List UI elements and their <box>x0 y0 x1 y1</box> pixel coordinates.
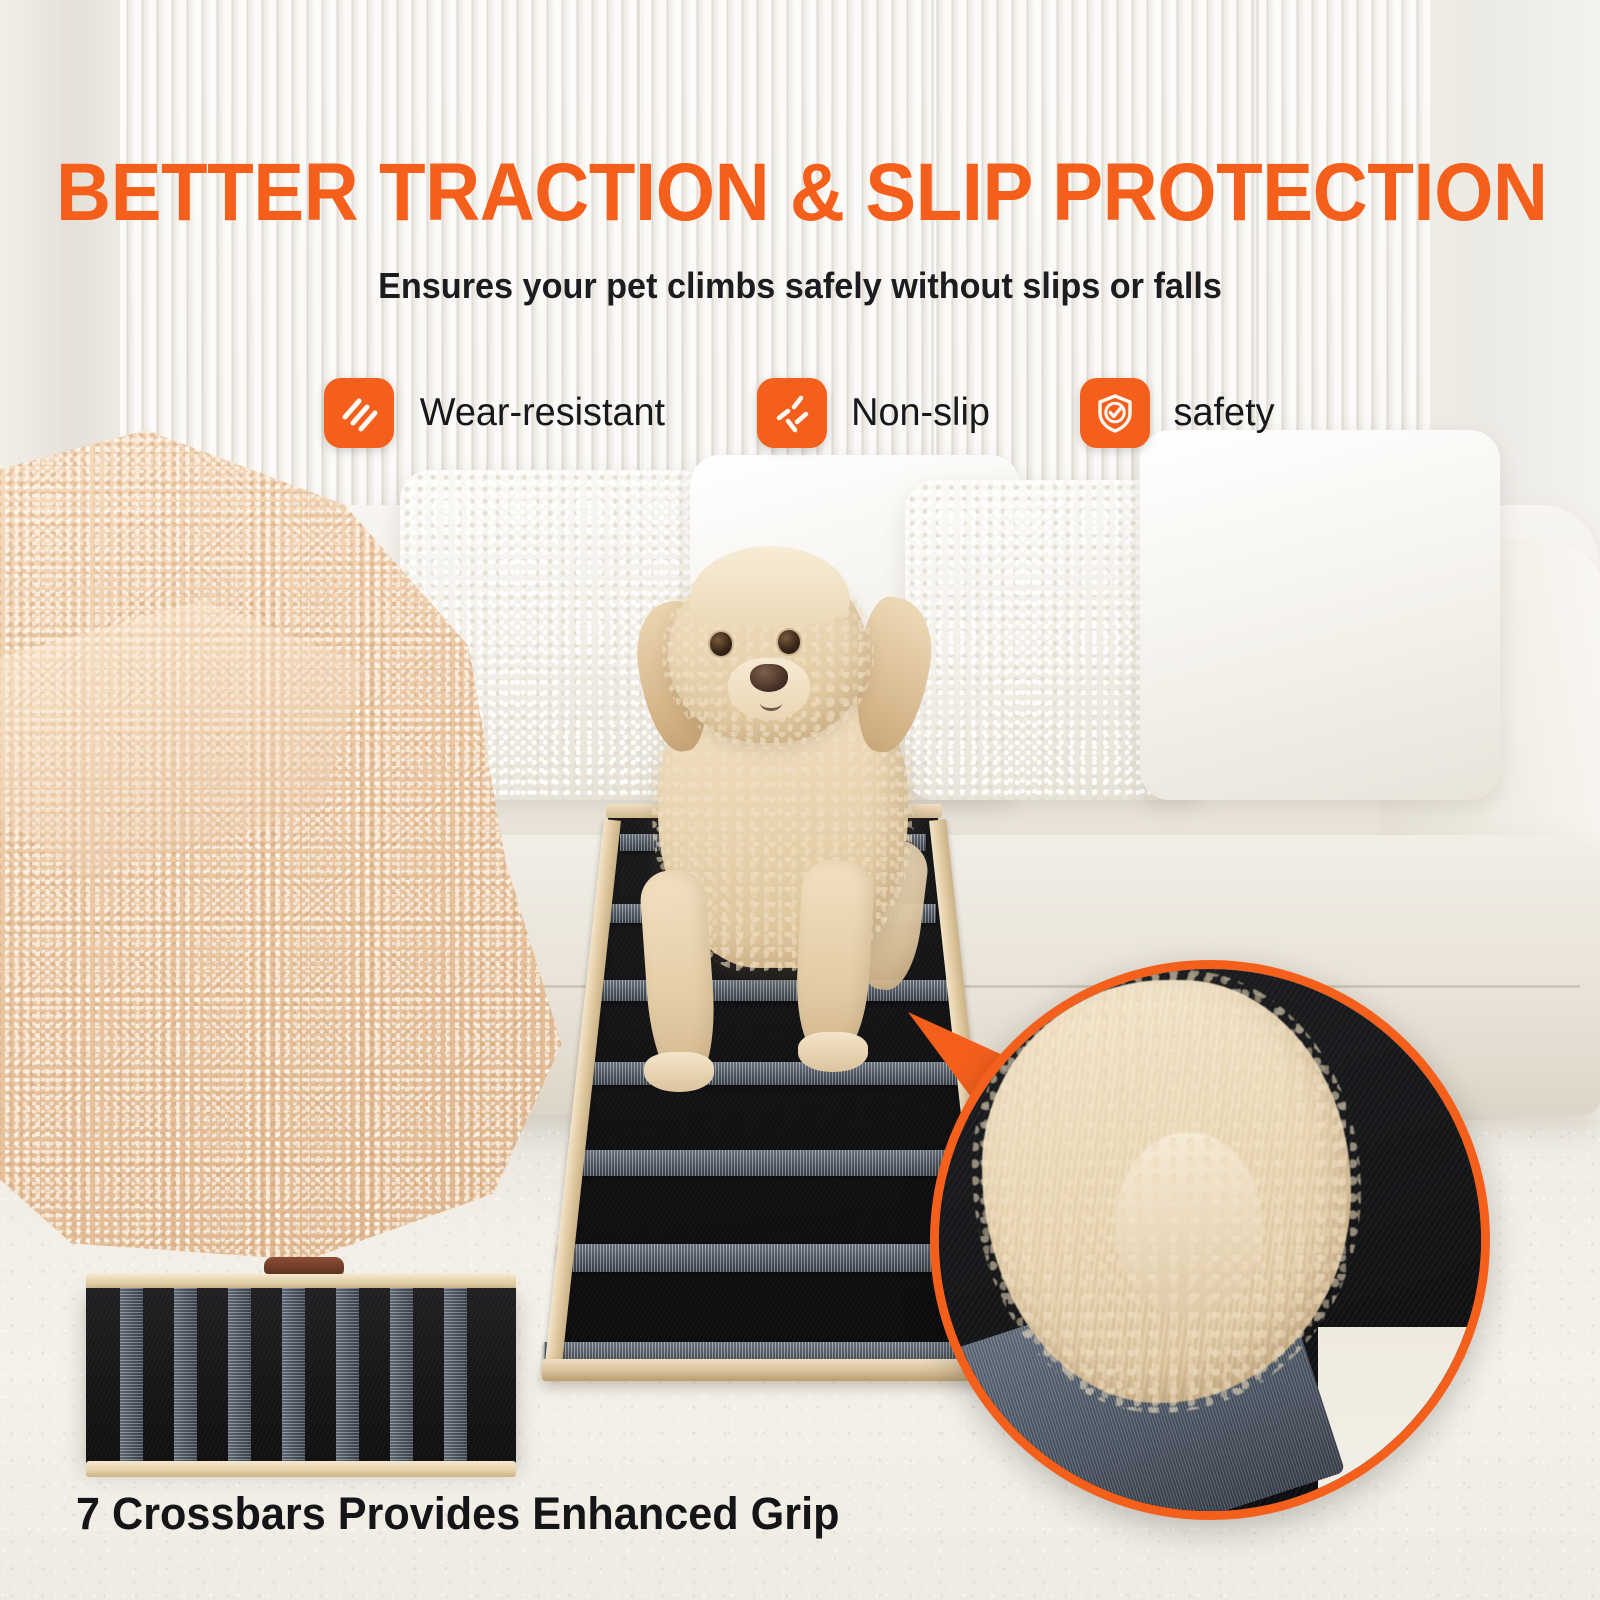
ramp-crossbar <box>558 1244 988 1272</box>
feature-badge-non-slip: Non-slip <box>757 378 992 448</box>
caption: 7 Crossbars Provides Enhanced Grip <box>76 1488 940 1540</box>
callout-paw-toe <box>1115 1132 1262 1318</box>
folded-ramp-crossbar <box>174 1288 197 1463</box>
folded-ramp-crossbar <box>336 1288 359 1463</box>
feature-badge-label: Non-slip <box>851 391 990 435</box>
callout-circle <box>930 960 1490 1520</box>
dog-paw-right <box>798 1032 868 1072</box>
product-feature-image: BETTER TRACTION & SLIP PROTECTION Ensure… <box>0 0 1600 1600</box>
callout-floor <box>1318 1327 1490 1511</box>
dog-paw-left <box>644 1052 714 1092</box>
dog-topknot <box>690 546 850 626</box>
folded-ramp-crossbar <box>444 1288 467 1463</box>
throw-pillow-plain <box>1140 430 1500 800</box>
ramp-crossbar <box>572 1150 974 1176</box>
carry-handle <box>264 1257 344 1274</box>
callout-dog-paw <box>982 980 1351 1403</box>
headline: BETTER TRACTION & SLIP PROTECTION <box>56 152 1544 234</box>
dog-eye-left <box>710 632 732 656</box>
dog-mouth <box>760 695 782 711</box>
folded-ramp-crossbar <box>228 1288 251 1463</box>
folded-ramp-inset <box>86 1288 516 1463</box>
folded-ramp-crossbar <box>282 1288 305 1463</box>
folded-ramp-crossbar <box>120 1288 143 1463</box>
subheadline: Ensures your pet climbs safely without s… <box>40 265 1560 307</box>
feature-badge-wear-resistant: Wear-resistant <box>324 378 669 448</box>
dog-eye-right <box>778 630 800 654</box>
folded-ramp-deck <box>86 1288 516 1463</box>
feature-badge-label: safety <box>1173 391 1274 435</box>
feature-badge-safety: safety <box>1080 378 1276 448</box>
detail-callout <box>930 960 1490 1520</box>
folded-ramp-wood-rail-bottom <box>86 1461 516 1477</box>
feature-badge-label: Wear-resistant <box>420 391 665 435</box>
diagonal-stripes-icon <box>324 378 394 448</box>
folded-ramp-crossbar <box>390 1288 413 1463</box>
feature-badge-row: Wear-resistant Non-slip <box>0 378 1600 448</box>
shield-check-icon <box>1080 378 1150 448</box>
dog-photo <box>610 540 950 1080</box>
scattered-dashes-icon <box>757 378 827 448</box>
dog-nose <box>750 664 788 692</box>
